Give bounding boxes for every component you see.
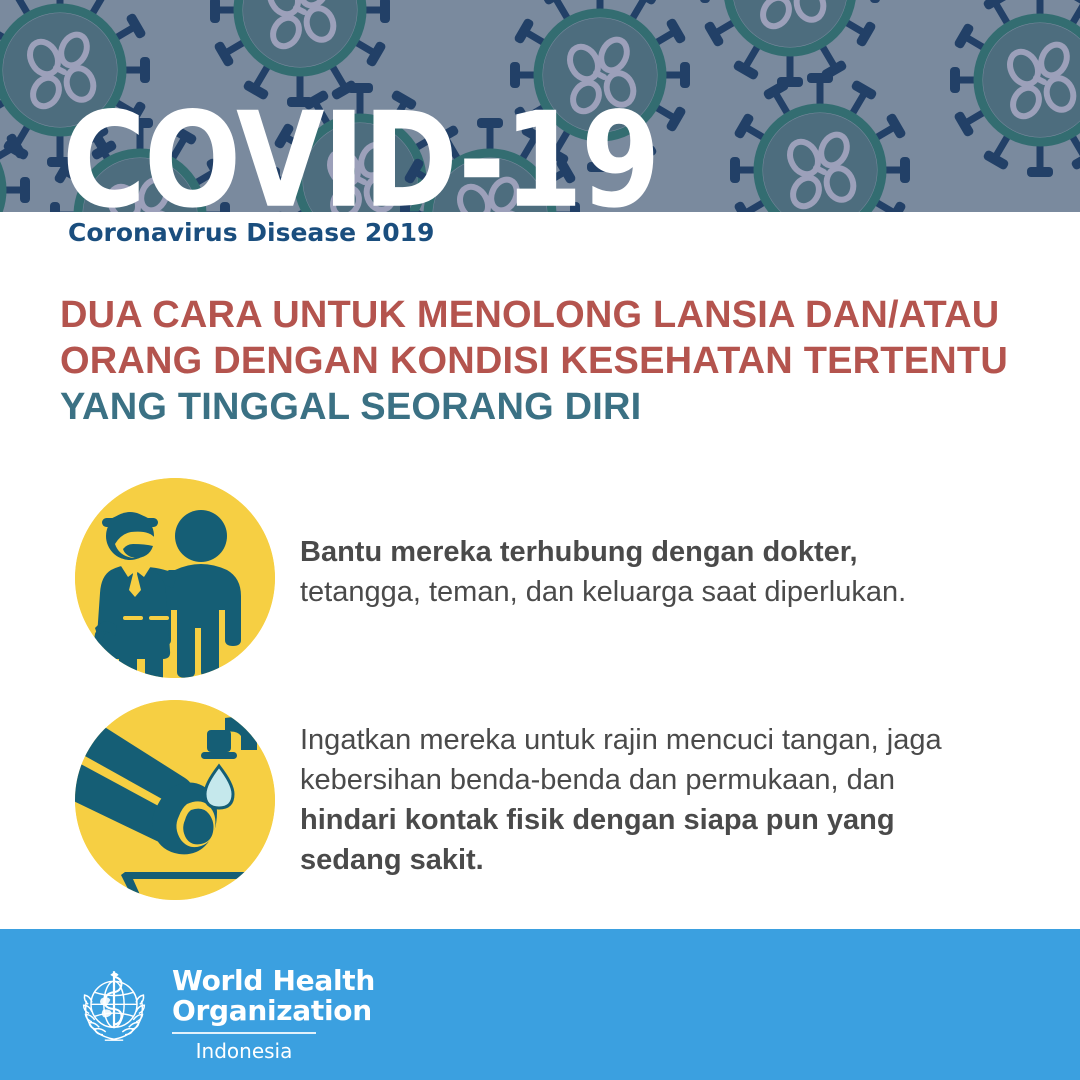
advice-item-2-regular-text-2: kebersihan benda-benda dan permukaan, da… xyxy=(300,764,895,796)
covid-subtitle: Coronavirus Disease 2019 xyxy=(68,218,434,247)
advice-item-2-text: Ingatkan mereka untuk rajin mencuci tang… xyxy=(300,720,1030,880)
advice-item-2-bold-text-2: sedang sakit. xyxy=(300,844,484,876)
who-text-block: World Health Organization Indonesia xyxy=(172,962,375,1063)
advice-item-1-bold-text: Bantu mereka terhubung dengan dokter, xyxy=(300,536,858,568)
headline: DUA CARA UNTUK MENOLONG LANSIA DAN/ATAU … xyxy=(60,292,1030,430)
advice-item-2-bold-text-1: hindari kontak fisik dengan siapa pun ya… xyxy=(300,804,895,836)
covid-wordmark: COVID-19 xyxy=(62,96,658,212)
handwashing-icon xyxy=(75,700,275,900)
who-country-label: Indonesia xyxy=(172,1039,316,1063)
who-logo: World Health Organization Indonesia xyxy=(68,962,375,1063)
headline-line-1: DUA CARA UNTUK MENOLONG LANSIA DAN/ATAU xyxy=(60,292,1030,338)
advice-item-2-regular-text-1: Ingatkan mereka untuk rajin mencuci tang… xyxy=(300,724,942,756)
who-emblem-icon xyxy=(68,962,160,1054)
advice-item-1-text: Bantu mereka terhubung dengan dokter, te… xyxy=(300,532,1030,612)
who-divider xyxy=(172,1032,316,1034)
headline-line-3: YANG TINGGAL SEORANG DIRI xyxy=(60,384,1030,430)
advice-item-1-regular-text: tetangga, teman, dan keluarga saat diper… xyxy=(300,576,906,608)
covid-infographic-poster: COVID-19 Coronavirus Disease 2019 DUA CA… xyxy=(0,0,1080,1080)
headline-line-2: ORANG DENGAN KONDISI KESEHATAN TERTENTU xyxy=(60,338,1030,384)
header-banner: COVID-19 xyxy=(0,0,1080,212)
who-org-line-1: World Health xyxy=(172,966,375,996)
who-org-line-2: Organization xyxy=(172,996,375,1026)
elderly-person-with-helper-icon xyxy=(75,478,275,678)
